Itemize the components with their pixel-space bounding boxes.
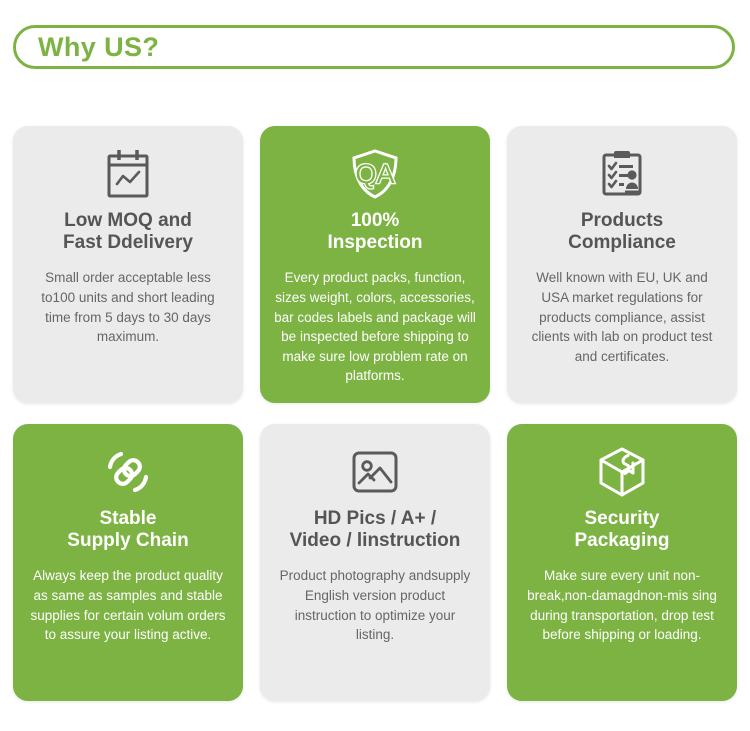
- card-body: Always keep the product quality as same …: [23, 566, 233, 644]
- card-body: Small order acceptable less to100 units …: [23, 268, 233, 346]
- qa-shield-icon: QA: [348, 146, 402, 202]
- why-us-infographic: Why US? Low MOQ and Fast Ddelivery Small…: [0, 0, 750, 731]
- feature-card-compliance[interactable]: Products Compliance Well known with EU, …: [507, 126, 737, 403]
- feature-card-packaging[interactable]: Security Packaging Make sure every unit …: [507, 424, 737, 701]
- card-body: Product photography andsupply English ve…: [270, 566, 480, 644]
- page-title: Why US?: [38, 34, 159, 61]
- card-title: 100% Inspection: [327, 210, 422, 254]
- feature-card-supply-chain[interactable]: Stable Supply Chain Always keep the prod…: [13, 424, 243, 701]
- feature-cards-grid: Low MOQ and Fast Ddelivery Small order a…: [13, 126, 737, 701]
- feature-card-hd-pics[interactable]: HD Pics / A+ / Video / linstruction Prod…: [260, 424, 490, 701]
- chain-link-icon: [101, 444, 155, 500]
- header-banner: Why US?: [13, 25, 735, 69]
- card-body: Make sure every unit non-break,non-damag…: [517, 566, 727, 644]
- feature-card-inspection[interactable]: QA 100% Inspection Every product packs, …: [260, 126, 490, 403]
- package-box-icon: [595, 444, 649, 500]
- card-title: Stable Supply Chain: [67, 508, 188, 552]
- svg-text:QA: QA: [355, 159, 394, 189]
- calendar-chart-icon: [104, 146, 152, 202]
- card-body: Every product packs, function, sizes wei…: [270, 268, 480, 385]
- clipboard-checklist-icon: [597, 146, 647, 202]
- card-title: Security Packaging: [574, 508, 669, 552]
- card-title: Low MOQ and Fast Ddelivery: [63, 210, 193, 254]
- card-body: Well known with EU, UK and USA market re…: [517, 268, 727, 366]
- card-title: Products Compliance: [568, 210, 676, 254]
- feature-card-low-moq[interactable]: Low MOQ and Fast Ddelivery Small order a…: [13, 126, 243, 403]
- card-title: HD Pics / A+ / Video / linstruction: [290, 508, 461, 552]
- image-photo-icon: [350, 444, 400, 500]
